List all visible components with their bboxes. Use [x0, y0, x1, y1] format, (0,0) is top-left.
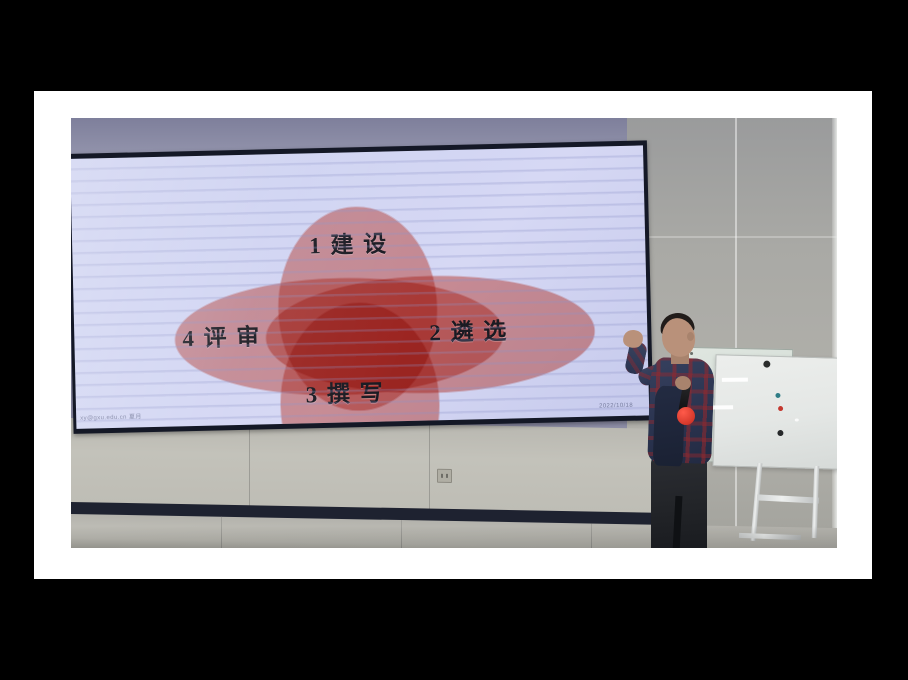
magnet-black-icon — [763, 361, 770, 368]
wall-outlet-icon — [437, 469, 452, 483]
slide-footer-date: 2022/10/18 — [599, 403, 633, 410]
magnet-red-icon — [778, 406, 783, 411]
presenter-ear — [687, 332, 694, 341]
screenshot-stage: 1 建 设 2 遴 选 3 撰 写 4 评 审 xy@gxu.edu.cn 夏月… — [0, 0, 908, 680]
slide-footer-contact: xy@gxu.edu.cn 夏月 — [80, 411, 142, 421]
magnet-teal-icon — [775, 393, 780, 398]
venn-label-3-zhuanxie: 3 撰 写 — [305, 374, 385, 410]
magnet-dark-icon — [777, 430, 783, 436]
photograph: 1 建 设 2 遴 选 3 撰 写 4 评 审 xy@gxu.edu.cn 夏月… — [71, 118, 837, 548]
wall-edge-highlight — [832, 118, 837, 548]
led-display-bezel: 1 建 设 2 遴 选 3 撰 写 4 评 审 xy@gxu.edu.cn 夏月… — [71, 140, 653, 434]
venn-label-1-jianshe: 1 建 设 — [309, 224, 389, 260]
magnet-white-icon — [795, 418, 799, 421]
photo-white-border: 1 建 设 2 遴 选 3 撰 写 4 评 审 xy@gxu.edu.cn 夏月… — [34, 91, 872, 579]
whiteboard[interactable] — [712, 354, 837, 470]
led-display-screen[interactable]: 1 建 设 2 遴 选 3 撰 写 4 评 审 xy@gxu.edu.cn 夏月… — [71, 145, 649, 428]
venn-label-2-linxuan: 2 遴 选 — [429, 312, 509, 348]
microphone-head-icon — [677, 407, 695, 425]
whiteboard-glare — [722, 378, 748, 382]
venn-label-4-pingshen: 4 评 审 — [182, 317, 262, 353]
